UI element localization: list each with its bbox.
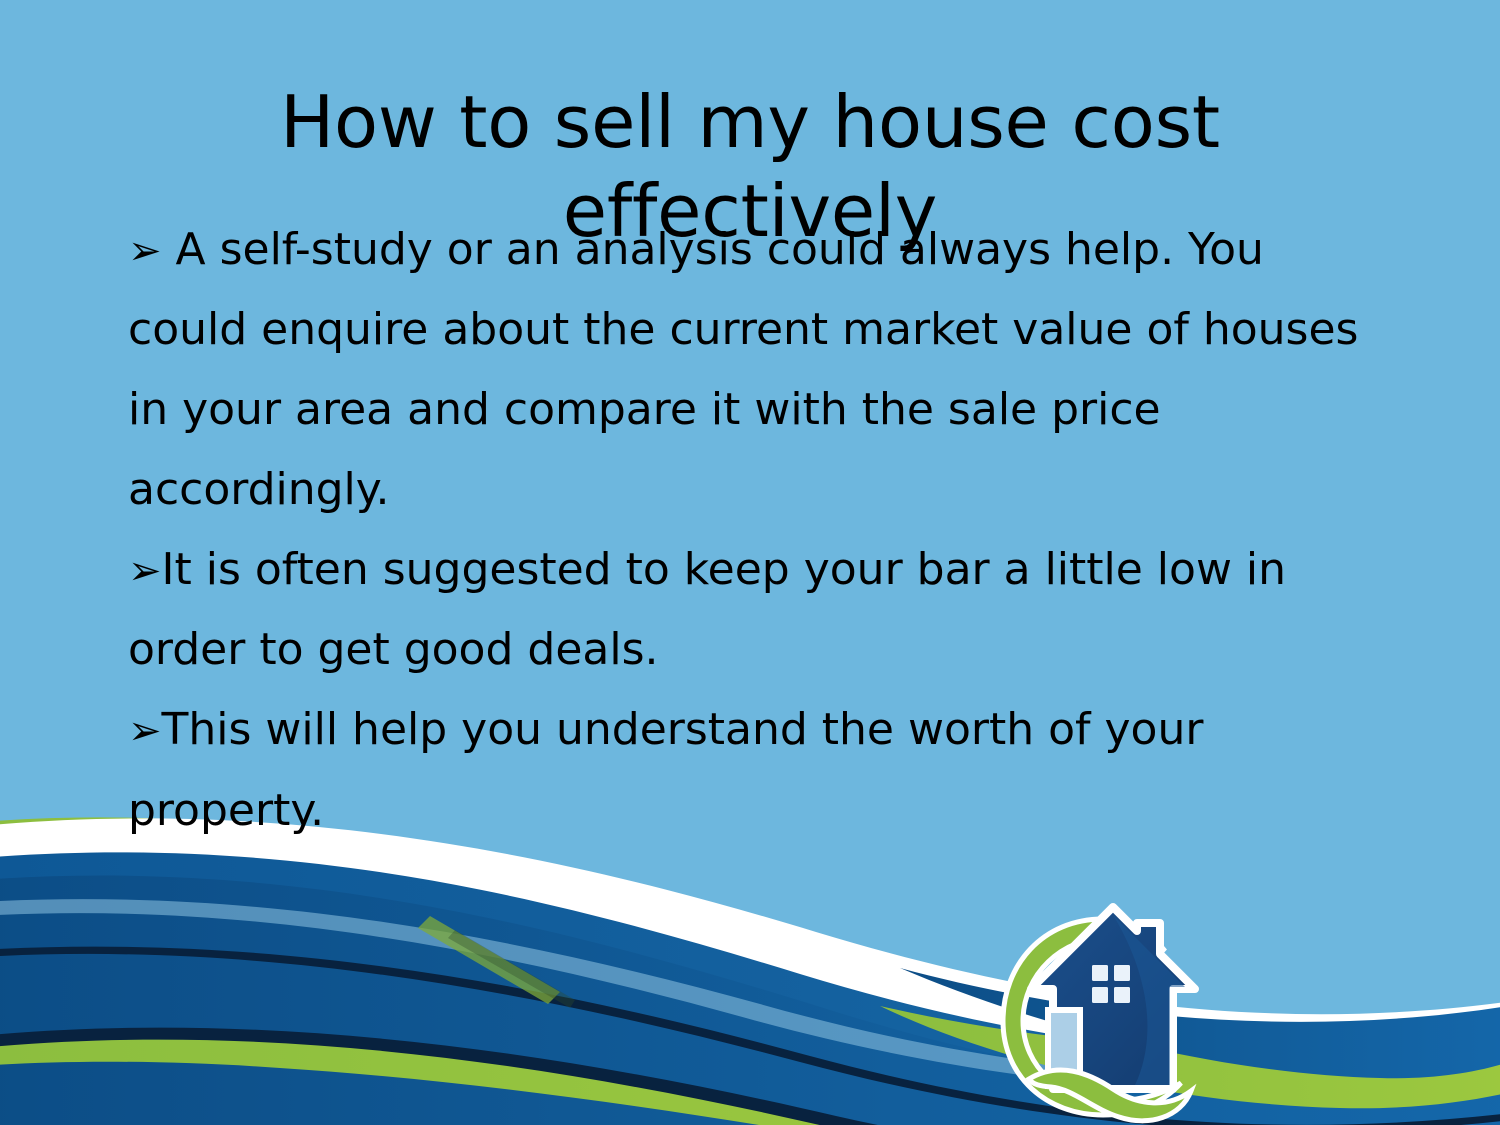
bullet-paragraph: ➢It is often suggested to keep your bar … [128,530,1386,690]
bullet-paragraph: ➢ A self-study or an analysis could alwa… [128,210,1386,530]
arrowhead-bullet-icon: ➢ [128,708,162,754]
presentation-slide: How to sell my house cost effectively ➢ … [0,0,1500,1125]
bullet-text: It is often suggested to keep your bar a… [128,544,1286,675]
page-title: How to sell my house cost effectively [160,78,1340,257]
bullet-paragraph: ➢This will help you understand the worth… [128,690,1386,850]
bullet-text: A self-study or an analysis could always… [128,224,1358,515]
house-with-green-leaf-logo-icon [985,893,1235,1125]
slide-body-container: ➢ A self-study or an analysis could alwa… [128,210,1386,851]
bullet-text: This will help you understand the worth … [128,704,1203,835]
slide-title-container: How to sell my house cost effectively [0,78,1500,257]
arrowhead-bullet-icon: ➢ [128,548,162,594]
